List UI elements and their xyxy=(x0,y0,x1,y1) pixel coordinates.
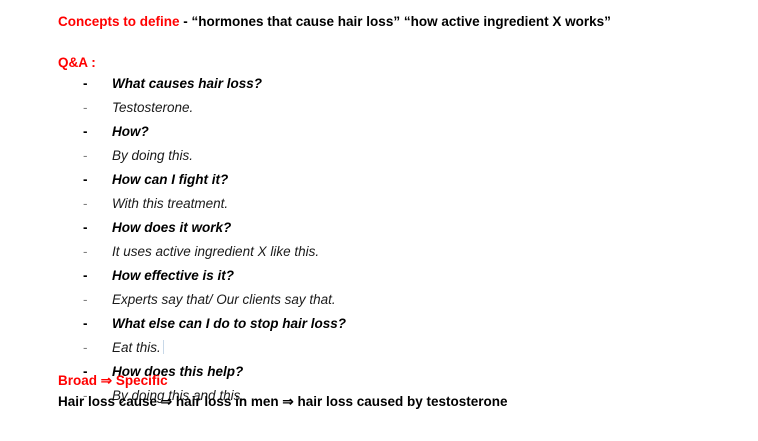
qa-question-row: -What else can I do to stop hair loss? xyxy=(58,312,698,336)
list-dash-marker: - xyxy=(83,216,97,240)
qa-answer-row: -With this treatment. xyxy=(58,192,698,216)
qa-question-text: How does it work? xyxy=(112,216,231,240)
qa-answer-row: -Eat this. xyxy=(58,336,698,360)
qa-answer-text: Testosterone. xyxy=(112,96,193,120)
list-dash-marker: - xyxy=(83,144,97,168)
list-dash-marker: - xyxy=(83,120,97,144)
qa-answer-text: Experts say that/ Our clients say that. xyxy=(112,288,336,312)
list-dash-marker: - xyxy=(83,240,97,264)
qa-question-text: What else can I do to stop hair loss? xyxy=(112,312,346,336)
qa-question-row: -How does it work? xyxy=(58,216,698,240)
qa-answer-row: -Experts say that/ Our clients say that. xyxy=(58,288,698,312)
specificity-chain: Hair loss cause ⇒ hair loss in men ⇒ hai… xyxy=(58,393,508,410)
qa-answer-text: Eat this. xyxy=(112,336,164,360)
concepts-line: Concepts to define - “hormones that caus… xyxy=(58,13,611,30)
qa-section-label: Q&A : xyxy=(58,54,96,71)
concepts-separator: - xyxy=(180,14,192,29)
document-page: Concepts to define - “hormones that caus… xyxy=(0,0,758,441)
qa-answer-row: -By doing this. xyxy=(58,144,698,168)
list-dash-marker: - xyxy=(83,96,97,120)
qa-question-text: How? xyxy=(112,120,149,144)
text-cursor xyxy=(163,340,164,354)
qa-answer-row: -Testosterone. xyxy=(58,96,698,120)
qa-question-text: How can I fight it? xyxy=(112,168,228,192)
qa-question-text: What causes hair loss? xyxy=(112,72,262,96)
concepts-phrases: “hormones that cause hair loss” “how act… xyxy=(192,14,611,29)
qa-question-row: -How can I fight it? xyxy=(58,168,698,192)
qa-answer-text: With this treatment. xyxy=(112,192,228,216)
qa-question-text: How effective is it? xyxy=(112,264,234,288)
qa-answer-text: It uses active ingredient X like this. xyxy=(112,240,319,264)
list-dash-marker: - xyxy=(83,312,97,336)
qa-question-row: -What causes hair loss? xyxy=(58,72,698,96)
qa-question-row: -How effective is it? xyxy=(58,264,698,288)
list-dash-marker: - xyxy=(83,168,97,192)
list-dash-marker: - xyxy=(83,288,97,312)
qa-question-row: -How? xyxy=(58,120,698,144)
list-dash-marker: - xyxy=(83,336,97,360)
qa-answer-row: -It uses active ingredient X like this. xyxy=(58,240,698,264)
qa-list: -What causes hair loss?-Testosterone.-Ho… xyxy=(58,72,698,408)
list-dash-marker: - xyxy=(83,192,97,216)
broad-specific-heading: Broad ⇒ Specific xyxy=(58,372,168,389)
list-dash-marker: - xyxy=(83,72,97,96)
qa-answer-text: By doing this. xyxy=(112,144,193,168)
concepts-heading: Concepts to define xyxy=(58,14,180,29)
list-dash-marker: - xyxy=(83,264,97,288)
